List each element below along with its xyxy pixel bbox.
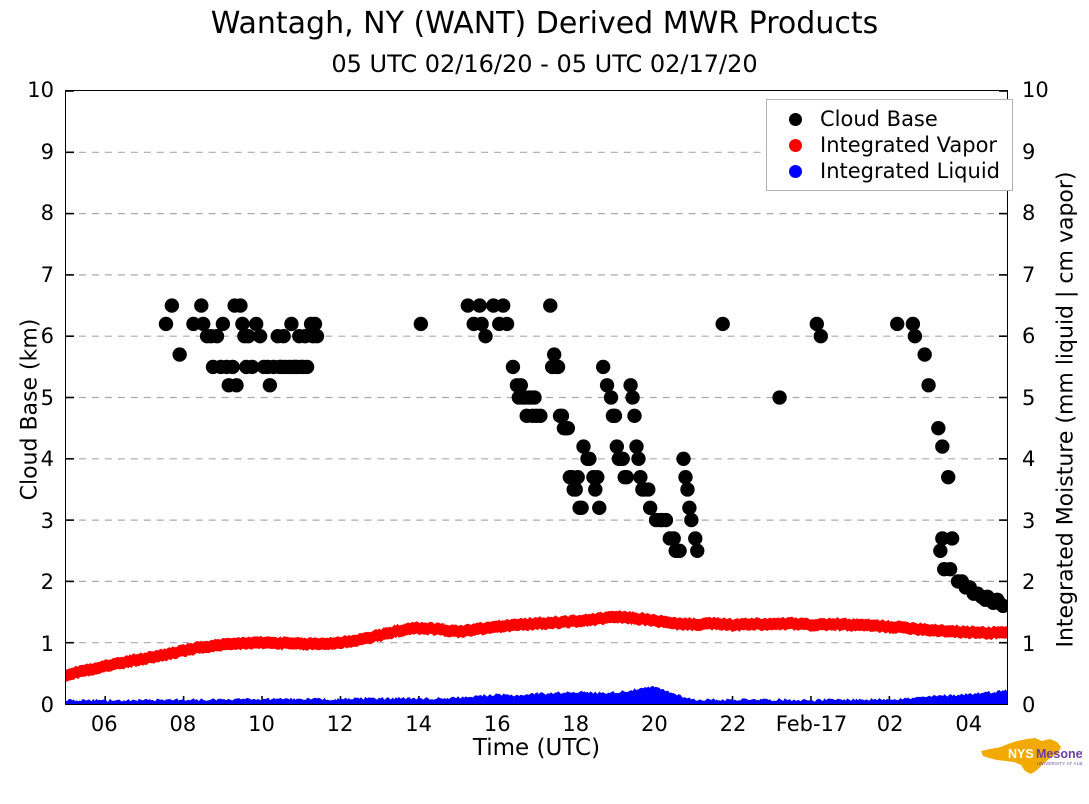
logo-nys-text: NYS: [1008, 747, 1034, 761]
cloud-base-point: [921, 378, 935, 392]
cloud-base-point: [931, 421, 945, 435]
cloud-base-point: [641, 482, 655, 496]
y-tick-label-right-10: 10: [1022, 78, 1062, 102]
series-integrated-liquid: [66, 686, 1007, 704]
cloud-base-point: [233, 298, 247, 312]
chart-title: Wantagh, NY (WANT) Derived MWR Products: [0, 6, 1089, 41]
y-tick-label-right-5: 5: [1022, 386, 1062, 410]
cloud-base-point: [667, 531, 681, 545]
cloud-base-point: [590, 470, 604, 484]
cloud-base-point: [620, 470, 634, 484]
x-tick-label-10: 10: [248, 712, 275, 736]
area-integrated-liquid: [66, 686, 1007, 704]
cloud-base-point: [680, 482, 694, 496]
x-tick-label-Feb-17: Feb-17: [776, 712, 847, 736]
cloud-base-point: [551, 360, 565, 374]
cloud-base-point: [682, 501, 696, 515]
x-tick-label-18: 18: [562, 712, 589, 736]
y-tick-label-right-8: 8: [1022, 201, 1062, 225]
x-tick-label-06: 06: [91, 712, 118, 736]
cloud-base-point: [571, 470, 585, 484]
x-tick-label-14: 14: [405, 712, 432, 736]
cloud-base-point: [592, 501, 606, 515]
cloud-base-point: [555, 409, 569, 423]
y-tick-label-left-7: 7: [14, 263, 54, 287]
y-tick-label-right-1: 1: [1022, 632, 1062, 656]
cloud-base-point: [225, 360, 239, 374]
cloud-base-point: [472, 298, 486, 312]
logo-mesonet-text: Mesonet: [1036, 747, 1083, 761]
y-tick-label-left-6: 6: [14, 324, 54, 348]
legend-item-cloud-base[interactable]: Cloud Base: [777, 106, 1000, 132]
cloud-base-point: [229, 378, 243, 392]
cloud-base-point: [633, 470, 647, 484]
y-tick-label-left-2: 2: [14, 570, 54, 594]
nys-mesonet-logo: NYS Mesonet UNIVERSITY AT ALBANY: [975, 736, 1083, 778]
cloud-base-point: [643, 501, 657, 515]
cloud-base-point: [690, 544, 704, 558]
cloud-base-point: [276, 329, 290, 343]
cloud-base-point: [263, 378, 277, 392]
cloud-base-point: [216, 317, 230, 331]
x-tick-label-12: 12: [327, 712, 354, 736]
cloud-base-point: [672, 544, 686, 558]
cloud-base-point: [159, 317, 173, 331]
cloud-base-point: [196, 317, 210, 331]
cloud-base-point: [678, 470, 692, 484]
logo-tagline-text: UNIVERSITY AT ALBANY: [1037, 761, 1083, 766]
y-tick-label-right-0: 0: [1022, 693, 1062, 717]
cloud-base-point: [576, 439, 590, 453]
cloud-base-point: [604, 390, 618, 404]
cloud-base-point: [608, 409, 622, 423]
chart-subtitle: 05 UTC 02/16/20 - 05 UTC 02/17/20: [0, 50, 1089, 78]
legend-label: Cloud Base: [820, 107, 938, 131]
chart-legend: Cloud BaseIntegrated VaporIntegrated Liq…: [766, 99, 1013, 191]
y-tick-label-right-2: 2: [1022, 570, 1062, 594]
cloud-base-point: [906, 317, 920, 331]
legend-marker-icon: [789, 139, 802, 152]
series-integrated-vapor: [66, 611, 1007, 682]
cloud-base-point: [496, 298, 510, 312]
cloud-base-point: [623, 378, 637, 392]
cloud-base-point: [588, 482, 602, 496]
cloud-base-point: [814, 329, 828, 343]
y-tick-label-left-10: 10: [14, 78, 54, 102]
cloud-base-point: [941, 470, 955, 484]
cloud-base-point: [596, 360, 610, 374]
cloud-base-point: [933, 544, 947, 558]
cloud-base-point: [194, 298, 208, 312]
cloud-base-point: [547, 347, 561, 361]
cloud-base-point: [890, 317, 904, 331]
x-tick-label-16: 16: [484, 712, 511, 736]
series-cloud-base: [159, 298, 1007, 613]
cloud-base-point: [569, 482, 583, 496]
cloud-base-point: [908, 329, 922, 343]
cloud-base-point: [810, 317, 824, 331]
x-tick-label-20: 20: [641, 712, 668, 736]
y-tick-label-left-8: 8: [14, 201, 54, 225]
cloud-base-point: [625, 390, 639, 404]
cloud-base-point: [514, 378, 528, 392]
cloud-base-point: [506, 360, 520, 374]
logo-graphic: NYS Mesonet UNIVERSITY AT ALBANY: [975, 736, 1083, 778]
cloud-base-point: [284, 317, 298, 331]
cloud-base-point: [716, 317, 730, 331]
y-tick-label-left-3: 3: [14, 509, 54, 533]
cloud-base-point: [684, 513, 698, 527]
legend-item-integrated-liquid[interactable]: Integrated Liquid: [777, 158, 1000, 184]
cloud-base-point: [917, 347, 931, 361]
cloud-base-point: [627, 409, 641, 423]
x-tick-label-08: 08: [170, 712, 197, 736]
cloud-base-point: [945, 531, 959, 545]
y-tick-label-left-4: 4: [14, 447, 54, 471]
cloud-base-point: [253, 329, 267, 343]
cloud-base-point: [308, 317, 322, 331]
cloud-base-point: [629, 439, 643, 453]
cloud-base-point: [676, 452, 690, 466]
legend-marker-icon: [789, 113, 802, 126]
cloud-base-point: [688, 531, 702, 545]
y-tick-label-left-1: 1: [14, 632, 54, 656]
cloud-base-point: [478, 329, 492, 343]
legend-label: Integrated Liquid: [820, 159, 1000, 183]
cloud-base-point: [610, 439, 624, 453]
cloud-base-point: [772, 390, 786, 404]
cloud-base-point: [582, 452, 596, 466]
cloud-base-point: [235, 317, 249, 331]
cloud-base-point: [165, 298, 179, 312]
cloud-base-point: [310, 329, 324, 343]
cloud-base-point: [300, 360, 314, 374]
band-integrated-vapor: [66, 611, 1007, 682]
cloud-base-point: [659, 513, 673, 527]
cloud-base-point: [616, 452, 630, 466]
x-tick-label-02: 02: [877, 712, 904, 736]
cloud-base-point: [527, 390, 541, 404]
cloud-base-point: [172, 347, 186, 361]
cloud-base-point: [561, 421, 575, 435]
x-axis-label: Time (UTC): [65, 735, 1008, 761]
y-tick-label-left-5: 5: [14, 386, 54, 410]
y-tick-label-right-7: 7: [1022, 263, 1062, 287]
cloud-base-point: [500, 317, 514, 331]
mwr-chart-figure: Wantagh, NY (WANT) Derived MWR Products …: [0, 0, 1089, 804]
cloud-base-point: [935, 439, 949, 453]
legend-label: Integrated Vapor: [820, 133, 997, 157]
cloud-base-point: [414, 317, 428, 331]
legend-item-integrated-vapor[interactable]: Integrated Vapor: [777, 132, 1000, 158]
y-tick-label-left-0: 0: [14, 693, 54, 717]
y-tick-label-right-9: 9: [1022, 140, 1062, 164]
cloud-base-point: [533, 409, 547, 423]
x-tick-label-04: 04: [955, 712, 982, 736]
y-tick-label-right-3: 3: [1022, 509, 1062, 533]
cloud-base-point: [474, 317, 488, 331]
cloud-base-point: [631, 452, 645, 466]
y-tick-label-right-6: 6: [1022, 324, 1062, 348]
y-tick-label-right-4: 4: [1022, 447, 1062, 471]
cloud-base-point: [543, 298, 557, 312]
cloud-base-point: [943, 562, 957, 576]
y-tick-label-left-9: 9: [14, 140, 54, 164]
cloud-base-point: [600, 378, 614, 392]
cloud-base-point: [249, 317, 263, 331]
legend-marker-icon: [789, 165, 802, 178]
x-tick-label-22: 22: [720, 712, 747, 736]
cloud-base-point: [574, 501, 588, 515]
cloud-base-point: [210, 329, 224, 343]
